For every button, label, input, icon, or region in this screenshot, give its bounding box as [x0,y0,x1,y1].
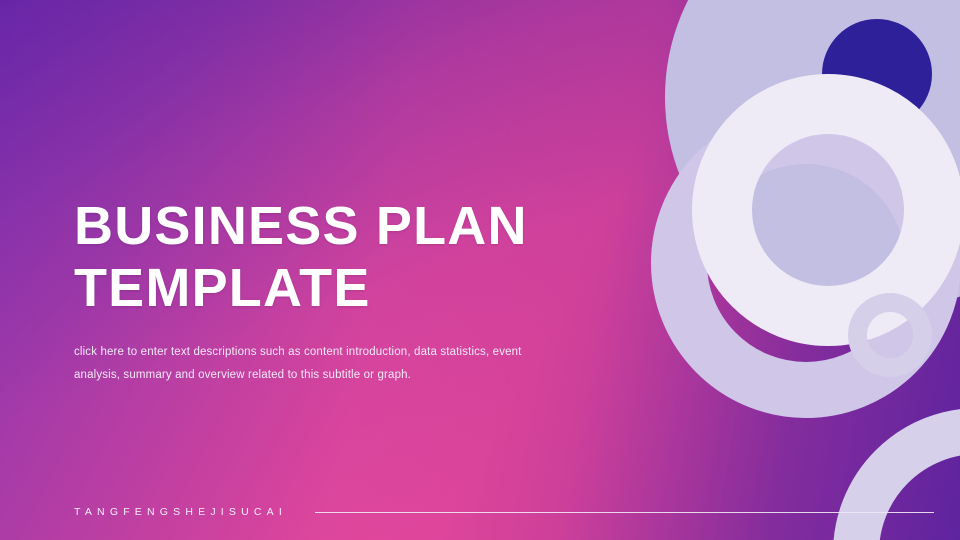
title-line-1: BUSINESS PLAN [74,196,528,256]
slide-footer: TANGFENGSHEJISUCAI [74,502,934,522]
footer-divider [315,512,934,513]
slide-subtitle: click here to enter text descriptions su… [74,341,554,387]
lavender-ring-icon [651,108,960,418]
dark-indigo-circle-icon [822,19,932,129]
footer-brand-label: TANGFENGSHEJISUCAI [74,506,287,518]
small-lavender-ring-icon [848,293,932,377]
presentation-slide: BUSINESS PLAN TEMPLATE click here to ent… [0,0,960,540]
page-title: BUSINESS PLAN TEMPLATE [74,196,634,319]
white-ring-icon [692,74,960,346]
large-pale-lavender-circle-icon [665,0,960,312]
slide-text-block: BUSINESS PLAN TEMPLATE click here to ent… [74,196,634,387]
title-line-2: TEMPLATE [74,258,371,318]
